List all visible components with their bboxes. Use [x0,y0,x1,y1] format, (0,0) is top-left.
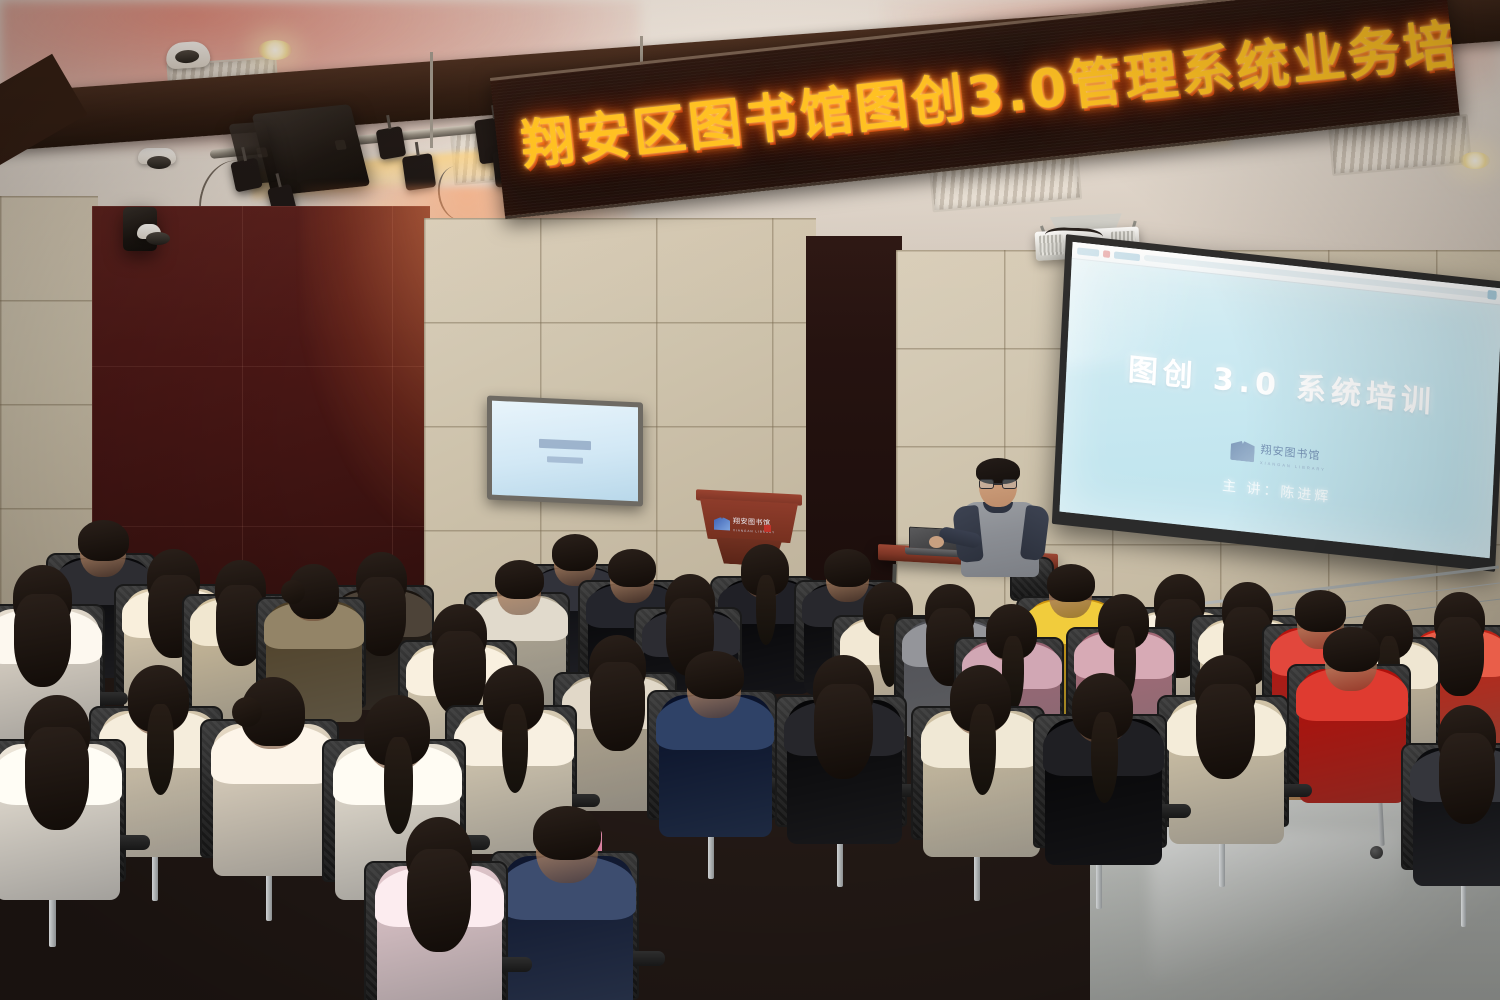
slide-close-icon[interactable] [1487,290,1496,300]
audience-member-hair-length [407,849,470,952]
audience-member [1408,700,1500,898]
book-logo-icon [714,517,730,531]
projection-screen: 图创 3.0 系统培训 翔安图书馆 XIANGAN LIBRARY 主 讲：陈进… [1052,234,1500,572]
audience-member-hair [685,651,745,699]
tv-text-line [547,456,583,464]
screen-glare [1059,242,1298,368]
ceiling-speaker-icon [138,148,176,164]
audience-member [0,690,125,914]
ceiling-downlight [1460,152,1490,169]
audience-member [208,672,339,889]
eyeglasses-icon [979,479,1017,489]
wall-mounted-tv[interactable] [487,395,643,506]
audience-member-ponytail [1091,712,1118,803]
audience-member [782,650,907,856]
audience-member-hair-length [590,662,645,751]
audience-member-hair [495,560,544,599]
projected-slide: 图创 3.0 系统培训 翔安图书馆 XIANGAN LIBRARY 主 讲：陈进… [1059,242,1500,558]
audience-member [918,660,1045,870]
audience-member-hair-length [1435,617,1484,696]
podium-seal-icon [764,525,771,532]
tv-logo-icon [539,438,591,449]
audience-member-hair-length [814,684,873,779]
podium-logo: 翔安图书馆 XIANGAN LIBRARY [714,515,775,534]
presenter-hand [929,536,944,548]
book-logo-icon [1230,440,1255,463]
audience-member [372,812,507,1000]
audience-member-hair-length [1439,733,1495,824]
lecture-hall-photo: 翔安区图书馆图创3.0管理系统业务培训 图创 3.0 系统培训 [0,0,1500,1000]
audience-member-hair [1323,627,1380,672]
table-caster [1370,846,1383,859]
audience-member [654,646,777,849]
audience-member-hair [533,806,601,861]
audience-member-ponytail [147,704,174,795]
truss-hanger-rod [430,52,433,148]
ceiling-downlight [258,40,292,60]
audience-member-hair-bun [232,697,262,727]
stage-par-light [376,126,407,160]
audience-member-hair-length [25,727,88,830]
audience-member-hair-length [14,594,72,687]
wall-camera-icon [137,224,161,239]
dome-security-camera-icon [165,40,211,69]
audience-member [1040,668,1167,878]
audience-member [1164,650,1289,856]
tv-screen [492,401,638,502]
audience-member-ponytail [969,704,996,795]
audience-member [1294,622,1410,815]
audience-member-hair-bun [281,580,305,604]
audience-member-hair-length [1196,684,1255,779]
podium-front-panel: 翔安图书馆 XIANGAN LIBRARY [700,498,798,543]
